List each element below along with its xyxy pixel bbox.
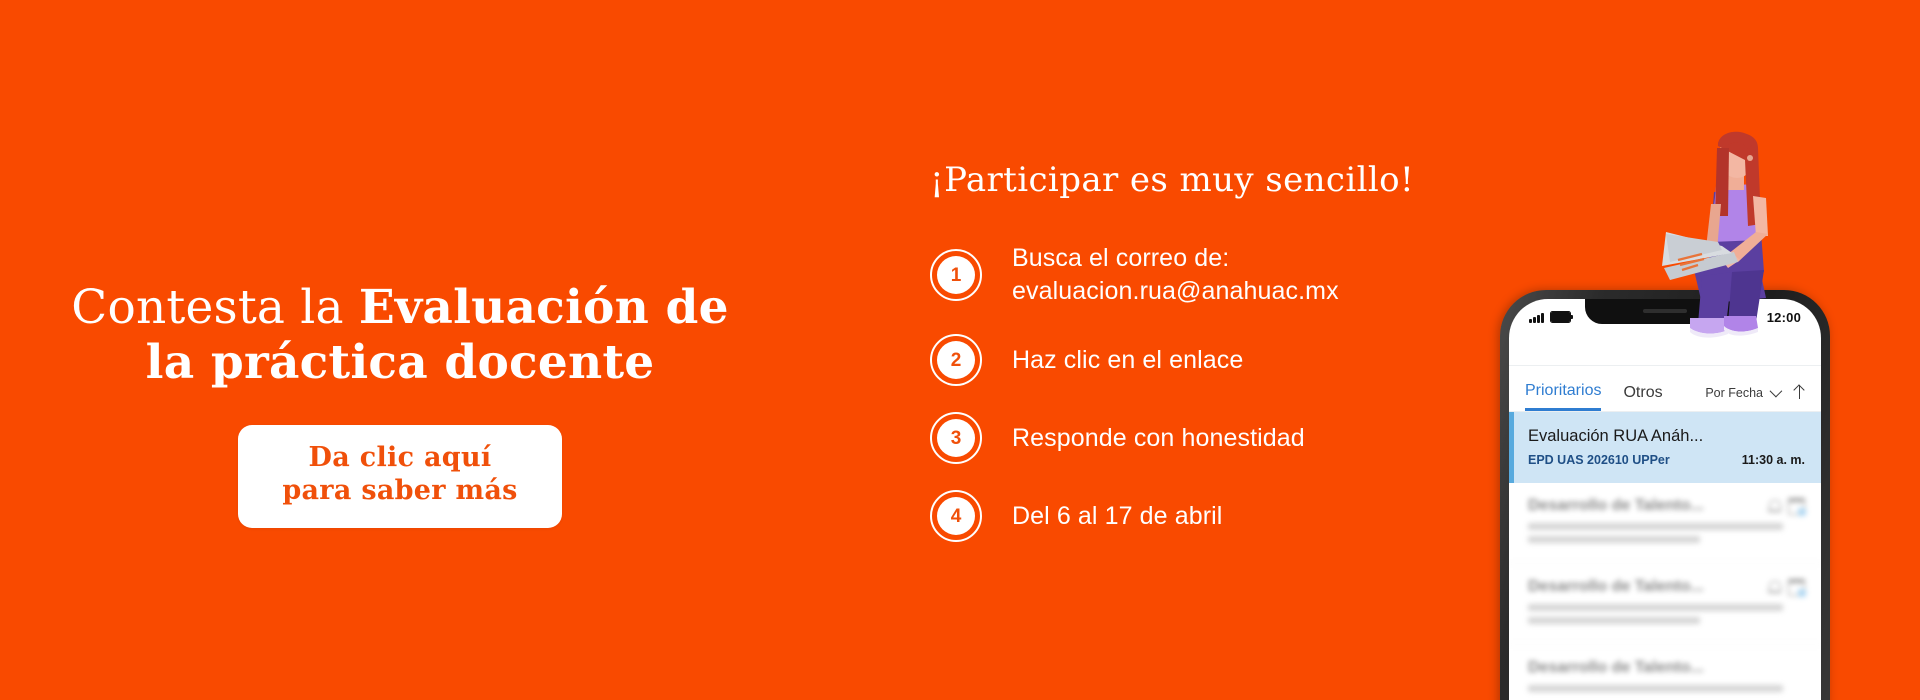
step-text: Busca el correo de: evaluacion.rua@anahu… (1012, 242, 1339, 308)
mail-subject: Desarrollo de Talento... (1528, 497, 1704, 515)
mail-preview-line (1528, 523, 1783, 530)
mail-timestamp: 11:30 a. m. (1742, 453, 1805, 467)
bell-icon (1767, 499, 1781, 514)
step-text: Responde con honestidad (1012, 422, 1305, 455)
hero-block: Contesta la Evaluación de la práctica do… (60, 280, 740, 528)
bell-icon (1767, 580, 1781, 595)
phone-mockup: 12:00 Prioritarios Otros Por Fecha Evalu… (1500, 290, 1830, 700)
step-number: 2 (937, 341, 975, 379)
status-left-group (1529, 311, 1571, 323)
mail-preview-line (1528, 604, 1783, 611)
list-item: 4 Del 6 al 17 de abril (930, 490, 1490, 542)
list-item: 2 Haz clic en el enlace (930, 334, 1490, 386)
mail-row-top: Desarrollo de Talento... (1528, 659, 1805, 677)
step-text: Del 6 al 17 de abril (1012, 500, 1222, 533)
step-text-line-1: Busca el correo de: (1012, 244, 1229, 272)
step-text-line-1: Haz clic en el enlace (1012, 346, 1243, 374)
mail-sender: EPD UAS 202610 UPPer (1528, 453, 1670, 467)
step-text-line-1: Del 6 al 17 de abril (1012, 502, 1222, 530)
step-number: 4 (937, 497, 975, 535)
list-item: 1 Busca el correo de: evaluacion.rua@ana… (930, 242, 1490, 308)
page-title: Contesta la Evaluación de la práctica do… (60, 280, 740, 391)
tab-otros[interactable]: Otros (1623, 384, 1662, 410)
mail-tab-bar: Prioritarios Otros Por Fecha (1509, 366, 1821, 412)
step-number-badge: 4 (930, 490, 982, 542)
step-text: Haz clic en el enlace (1012, 344, 1243, 377)
step-number: 3 (937, 419, 975, 457)
mail-preview-line (1528, 617, 1700, 624)
headline-line-2: la práctica docente (146, 335, 655, 390)
mail-icon-group (1767, 579, 1805, 596)
list-item: 3 Responde con honestidad (930, 412, 1490, 464)
battery-icon (1550, 311, 1571, 323)
cta-line-2: para saber más (282, 475, 517, 508)
arrow-up-icon[interactable] (1794, 385, 1805, 399)
calendar-icon (1788, 579, 1805, 596)
promo-banner: Contesta la Evaluación de la práctica do… (0, 0, 1920, 700)
cta-button[interactable]: Da clic aquí para saber más (238, 425, 561, 528)
cta-line-1: Da clic aquí (282, 442, 517, 475)
step-text-line-1: Responde con honestidad (1012, 424, 1305, 452)
mail-list-item[interactable]: Desarrollo de Talento... (1509, 564, 1821, 645)
mail-row-top: Desarrollo de Talento... (1528, 497, 1805, 515)
phone-screen: 12:00 Prioritarios Otros Por Fecha Evalu… (1509, 299, 1821, 700)
mail-meta-row: EPD UAS 202610 UPPer 11:30 a. m. (1528, 453, 1805, 467)
steps-title: ¡Participar es muy sencillo! (930, 160, 1490, 200)
chevron-down-icon (1770, 385, 1783, 398)
sort-label: Por Fecha (1705, 386, 1763, 400)
step-text-line-2: evaluacion.rua@anahuac.mx (1012, 275, 1339, 308)
mail-subject: Desarrollo de Talento... (1528, 578, 1704, 596)
headline-bold-part: Evaluación de (359, 280, 729, 335)
signal-bars-icon (1529, 312, 1544, 323)
mail-subject: Evaluación RUA Anáh... (1528, 427, 1805, 446)
tab-prioritarios[interactable]: Prioritarios (1525, 382, 1601, 411)
calendar-icon (1788, 498, 1805, 515)
woman-with-laptop-illustration (1598, 120, 1828, 350)
sort-control[interactable]: Por Fecha (1705, 385, 1805, 408)
step-number: 1 (937, 256, 975, 294)
steps-list: 1 Busca el correo de: evaluacion.rua@ana… (930, 242, 1490, 542)
mail-list-item[interactable]: Desarrollo de Talento... (1509, 645, 1821, 700)
mail-list-item-highlighted[interactable]: Evaluación RUA Anáh... EPD UAS 202610 UP… (1509, 412, 1821, 483)
steps-panel: ¡Participar es muy sencillo! 1 Busca el … (930, 160, 1490, 542)
mail-row-top: Desarrollo de Talento... (1528, 578, 1805, 596)
mail-preview-line (1528, 685, 1783, 692)
headline-light-part: Contesta la (71, 280, 359, 335)
mail-list-item[interactable]: Desarrollo de Talento... (1509, 483, 1821, 564)
phone-illustration-block: 12:00 Prioritarios Otros Por Fecha Evalu… (1480, 0, 1920, 700)
step-number-badge: 1 (930, 249, 982, 301)
mail-subject: Desarrollo de Talento... (1528, 659, 1704, 677)
step-number-badge: 2 (930, 334, 982, 386)
step-number-badge: 3 (930, 412, 982, 464)
mail-preview-line (1528, 536, 1700, 543)
mail-icon-group (1767, 498, 1805, 515)
